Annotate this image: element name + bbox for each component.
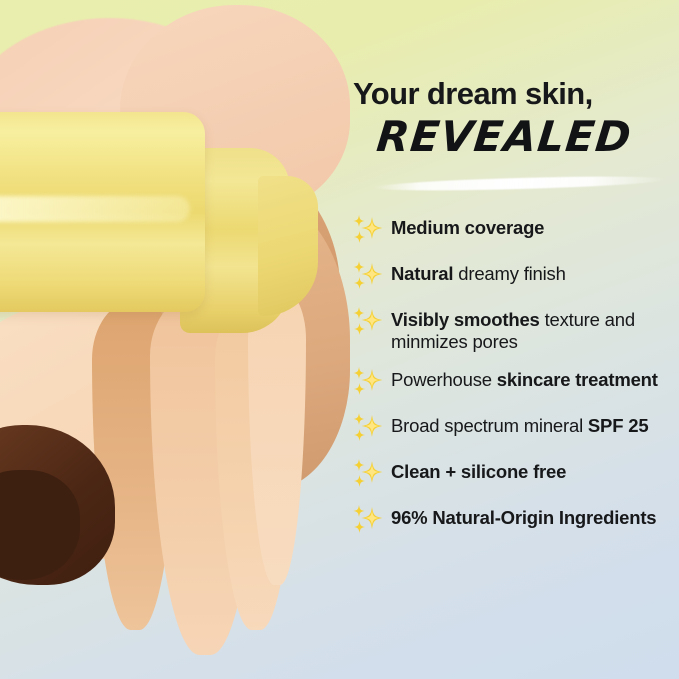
feature-item: Medium coverage [351,214,679,246]
feature-label: Broad spectrum mineral SPF 25 [391,412,648,437]
feature-label: Visibly smoothes texture and minmizes po… [391,306,669,352]
product-tube-highlight [0,196,190,222]
headline: Your dream skin, REVEALED [353,78,679,158]
sparkle-icon [351,366,385,398]
feature-item: Clean + silicone free [351,458,679,490]
feature-item: Visibly smoothes texture and minmizes po… [351,306,679,352]
product-artwork [0,0,360,679]
feature-item: Powerhouse skincare treatment [351,366,679,398]
headline-line-2: REVEALED [375,116,679,158]
feature-item: 96% Natural-Origin Ingredients [351,504,679,536]
headline-line-1: Your dream skin, [353,78,679,109]
sparkle-icon [351,260,385,292]
feature-label: Natural dreamy finish [391,260,566,285]
feature-item: Natural dreamy finish [351,260,679,292]
sparkle-icon [351,412,385,444]
feature-label: Medium coverage [391,214,544,239]
content-column: Your dream skin, REVEALED Medium coverag… [351,0,679,679]
sparkle-icon [351,504,385,536]
feature-label: 96% Natural-Origin Ingredients [391,504,656,529]
sparkle-icon [351,306,385,338]
sparkle-icon [351,458,385,490]
feature-list: Medium coverageNatural dreamy finishVisi… [351,214,679,550]
feature-label: Clean + silicone free [391,458,566,483]
feature-item: Broad spectrum mineral SPF 25 [351,412,679,444]
product-advertisement: Your dream skin, REVEALED Medium coverag… [0,0,679,679]
sparkle-icon [351,214,385,246]
feature-label: Powerhouse skincare treatment [391,366,658,391]
underline-brush-stroke [373,174,665,193]
